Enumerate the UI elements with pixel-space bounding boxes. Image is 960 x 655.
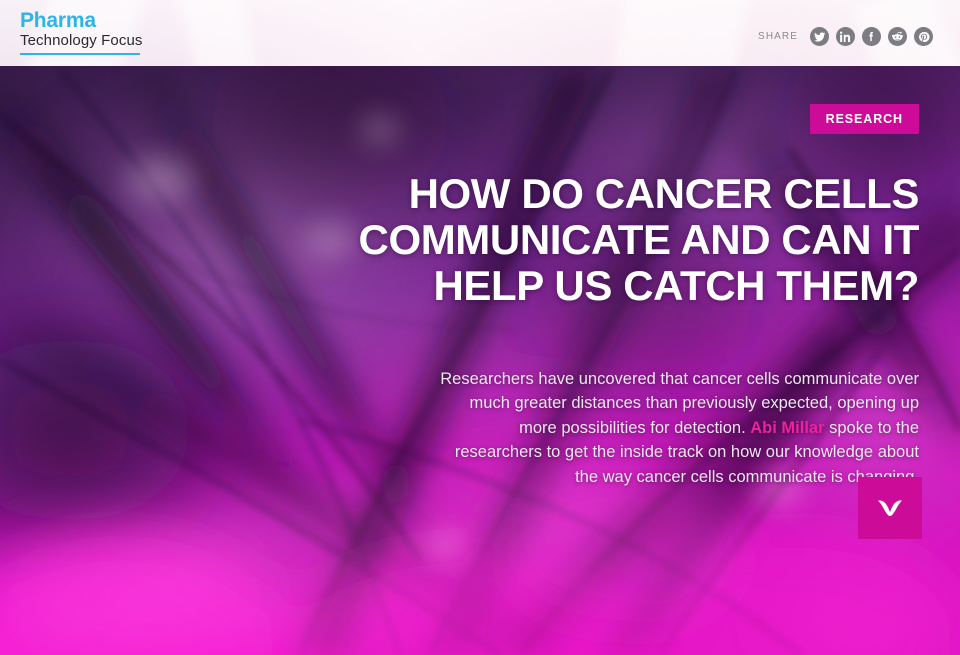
category-badge[interactable]: RESEARCH <box>810 104 919 134</box>
article-standfirst: Researchers have uncovered that cancer c… <box>432 367 919 490</box>
pinterest-icon[interactable] <box>914 27 933 46</box>
logo-secondary-text: Technology Focus <box>20 32 260 50</box>
hero-content: RESEARCH HOW DO CANCER CELLS COMMUNICATE… <box>0 0 960 655</box>
logo-underline <box>20 53 140 55</box>
scroll-down-button[interactable] <box>858 477 922 539</box>
logo-primary-text: Pharma <box>20 10 260 32</box>
share-bar: SHARE <box>758 27 933 46</box>
share-label: SHARE <box>758 31 798 42</box>
reddit-icon[interactable] <box>888 27 907 46</box>
author-byline[interactable]: Abi Millar <box>750 419 824 437</box>
page-title: HOW DO CANCER CELLS COMMUNICATE AND CAN … <box>319 171 919 309</box>
facebook-icon[interactable] <box>862 27 881 46</box>
linkedin-icon[interactable] <box>836 27 855 46</box>
article-hero-page: Pharma Technology Focus SHARE <box>0 0 960 655</box>
chevron-down-icon <box>875 497 905 519</box>
twitter-icon[interactable] <box>810 27 829 46</box>
site-logo[interactable]: Pharma Technology Focus <box>20 10 260 55</box>
